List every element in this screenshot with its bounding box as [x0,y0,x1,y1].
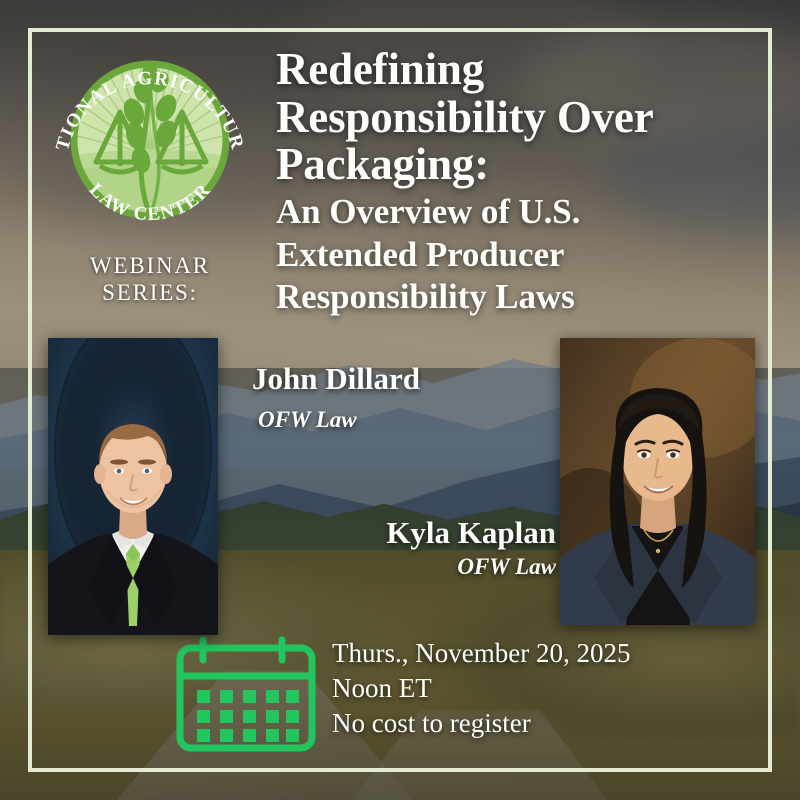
event-details: Thurs., November 20, 2025 Noon ET No cos… [332,636,630,741]
subtitle-line-2: Extended Producer [276,236,776,275]
portrait-illustration [48,338,218,635]
webinar-promo-poster: NATIONAL AGRICULTURAL LAW CENTER WEBINAR… [0,0,800,800]
event-cost: No cost to register [332,706,630,741]
event-time: Noon ET [332,671,630,706]
portrait-illustration [560,338,755,625]
webinar-series-line-2: SERIES: [48,279,252,306]
title-line-2: Responsibility Over [276,94,776,142]
nalc-logo: NATIONAL AGRICULTURAL LAW CENTER [48,38,252,242]
speaker-photo-kyla-kaplan [560,338,755,625]
event-date: Thurs., November 20, 2025 [332,636,630,671]
speaker-organization: OFW Law [300,553,556,581]
subtitle-line-3: Responsibility Laws [276,278,776,317]
speaker-info-john-dillard: John Dillard OFW Law [252,362,420,434]
title-line-3: Packaging: [276,141,776,189]
nalc-logo-icon: NATIONAL AGRICULTURAL LAW CENTER [48,38,252,242]
webinar-series-line-1: WEBINAR [48,252,252,279]
speaker-name: Kyla Kaplan [300,516,556,550]
speaker-info-kyla-kaplan: Kyla Kaplan OFW Law [300,516,556,581]
speaker-organization: OFW Law [258,406,420,434]
webinar-series-label: WEBINAR SERIES: [48,252,252,306]
page-title: Redefining Responsibility Over Packaging… [276,46,776,317]
speaker-photo-john-dillard [48,338,218,635]
calendar-icon-glyph [172,636,320,752]
subtitle-line-1: An Overview of U.S. [276,193,776,232]
calendar-icon [172,636,320,752]
title-line-1: Redefining [276,46,776,94]
speaker-name: John Dillard [252,362,420,396]
